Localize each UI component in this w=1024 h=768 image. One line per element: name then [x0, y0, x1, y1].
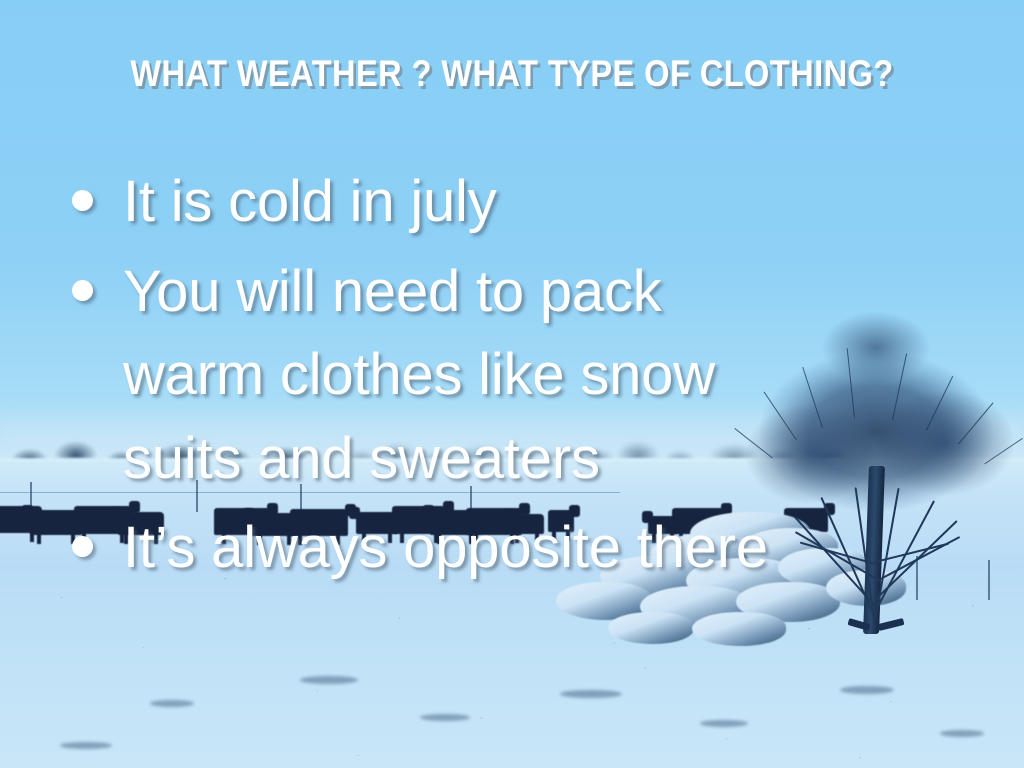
list-item: It is cold in july — [60, 160, 980, 244]
list-item: You will need to pack warm clothes like … — [60, 250, 980, 501]
bullet-line: You will need to pack — [123, 250, 980, 334]
bullet-dot-icon — [72, 190, 93, 211]
list-item: It’s always opposite there — [60, 506, 980, 590]
grass-tuft — [150, 700, 194, 707]
grass-tuft — [700, 720, 748, 727]
bullet-dot-icon — [72, 280, 93, 301]
grass-tuft — [420, 714, 470, 721]
grass-tuft — [840, 686, 894, 694]
bullet-dot-icon — [72, 536, 93, 557]
bullet-line: suits and sweaters — [123, 417, 980, 501]
bullet-line: warm clothes like snow — [123, 333, 980, 417]
bullet-line: It is cold in july — [123, 160, 980, 244]
stone-wall-pile — [608, 612, 694, 644]
grass-tuft — [940, 730, 984, 737]
slide-title: WHAT WEATHER ? WHAT TYPE OF CLOTHING? — [61, 53, 962, 95]
bullet-list: It is cold in july You will need to pack… — [60, 160, 980, 596]
grass-tuft — [60, 742, 112, 749]
bullet-line: It’s always opposite there — [123, 506, 980, 590]
presentation-slide: WHAT WEATHER ? WHAT TYPE OF CLOTHING? It… — [0, 0, 1024, 768]
grass-tuft — [300, 676, 358, 684]
grass-tuft — [560, 690, 622, 698]
